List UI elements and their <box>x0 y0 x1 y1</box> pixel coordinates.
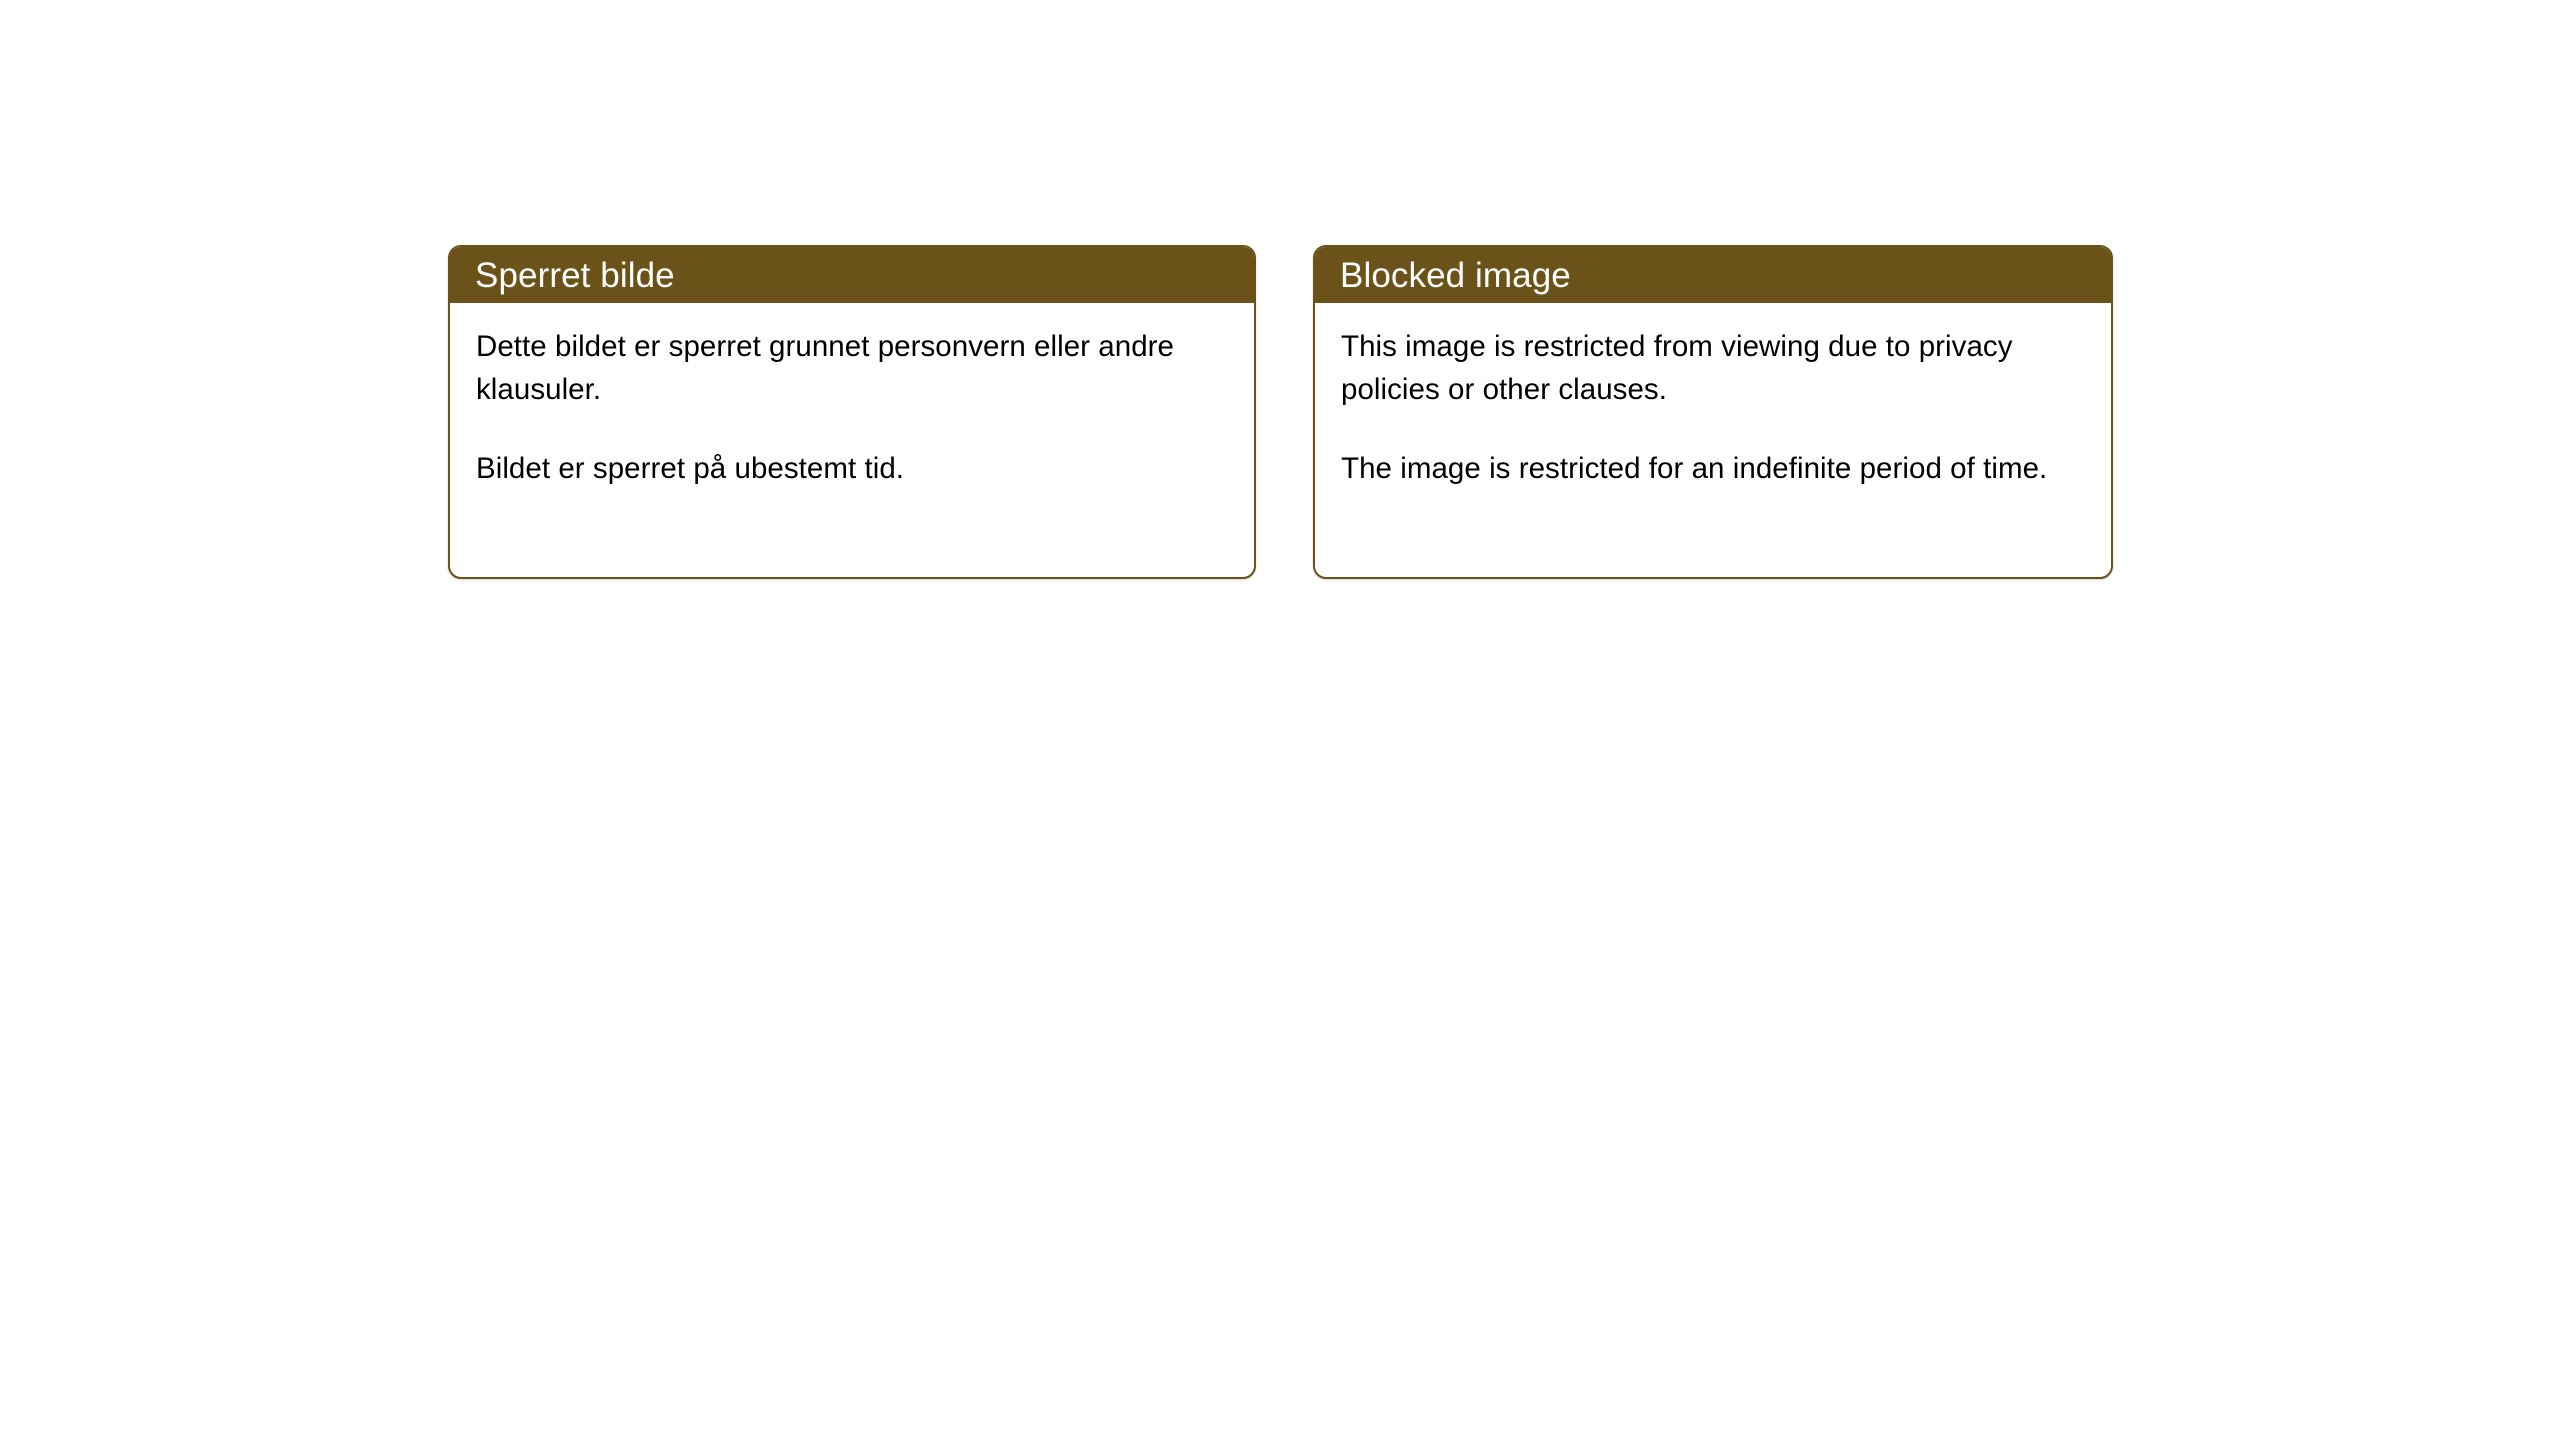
page-root: Sperret bilde Dette bildet er sperret gr… <box>0 0 2560 1440</box>
blocked-image-notice-group: Sperret bilde Dette bildet er sperret gr… <box>448 245 2113 579</box>
card-body-norwegian: Dette bildet er sperret grunnet personve… <box>450 303 1254 490</box>
card-title-english: Blocked image <box>1340 258 1571 293</box>
card-paragraph-reason-norwegian: Dette bildet er sperret grunnet personve… <box>476 325 1232 411</box>
card-title-norwegian: Sperret bilde <box>475 258 675 293</box>
blocked-image-card-norwegian: Sperret bilde Dette bildet er sperret gr… <box>448 245 1256 579</box>
blocked-image-card-english: Blocked image This image is restricted f… <box>1313 245 2113 579</box>
card-paragraph-duration-english: The image is restricted for an indefinit… <box>1341 447 2089 490</box>
card-header-english: Blocked image <box>1315 247 2111 303</box>
card-header-norwegian: Sperret bilde <box>450 247 1254 303</box>
card-paragraph-reason-english: This image is restricted from viewing du… <box>1341 325 2089 411</box>
card-paragraph-duration-norwegian: Bildet er sperret på ubestemt tid. <box>476 447 1232 490</box>
card-body-english: This image is restricted from viewing du… <box>1315 303 2111 490</box>
